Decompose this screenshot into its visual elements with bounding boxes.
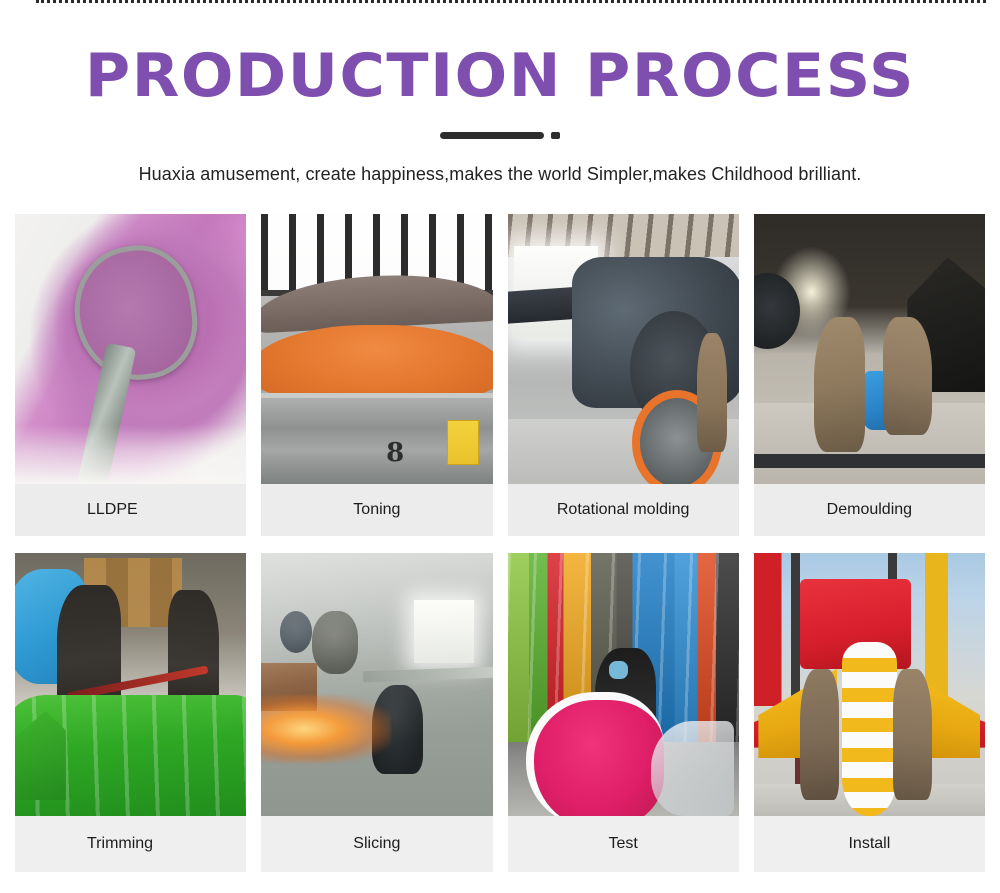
rotational-molding-photo[interactable] [508,214,739,484]
card-label: Trimming [87,835,153,853]
process-card-lldpe[interactable]: LLDPE [15,214,246,536]
face-mask [609,661,628,679]
divider-square [551,132,560,139]
page-title: PRODUCTION PROCESS [0,44,1000,108]
surface-glare [15,425,246,484]
drum-number-mark: 8 [386,438,404,468]
card-label: Demoulding [827,501,912,519]
worker-figure-left [800,669,839,801]
card-label: Install [848,835,890,853]
card-caption: Demoulding [754,484,985,536]
card-label: LLDPE [87,501,138,519]
process-card-rotational-molding[interactable]: Rotational molding [508,214,739,536]
test-photo[interactable] [508,553,739,816]
card-label: Slicing [353,835,400,853]
steel-frame [754,454,985,468]
worker-figure-left [814,317,865,452]
toning-photo[interactable]: 8 [261,214,492,484]
process-card-toning[interactable]: 8 Toning [261,214,492,536]
card-caption: Toning [261,484,492,536]
card-label: Test [608,835,637,853]
clear-plastic-part [651,721,734,816]
process-card-trimming[interactable]: Trimming [15,553,246,872]
spiral-tube-slide [842,642,898,816]
card-caption: Slicing [261,816,492,872]
card-caption: Install [754,816,985,872]
process-card-install[interactable]: Install [754,553,985,872]
production-process-page: PRODUCTION PROCESS Huaxia amusement, cre… [0,0,1000,893]
install-photo[interactable] [754,553,985,816]
card-caption: LLDPE [15,484,246,536]
worker-figure-right [893,669,932,801]
card-label: Toning [353,501,400,519]
process-card-test[interactable]: Test [508,553,739,872]
trimming-photo[interactable] [15,553,246,816]
section-header: PRODUCTION PROCESS Huaxia amusement, cre… [0,0,1000,185]
process-card-slicing[interactable]: Slicing [261,553,492,872]
worker-figure [697,333,727,452]
slicing-photo[interactable] [261,553,492,816]
card-label: Rotational molding [557,501,690,519]
title-divider [0,130,1000,140]
card-caption: Rotational molding [508,484,739,536]
lldpe-photo[interactable] [15,214,246,484]
worker-figure-right [883,317,932,436]
card-caption: Trimming [15,816,246,872]
light-haze [261,553,492,816]
top-dotted-divider [36,0,986,3]
drum-yellow-label [447,420,479,465]
page-subtitle: Huaxia amusement, create happiness,makes… [0,164,1000,185]
process-gallery-grid: LLDPE 8 Toning [15,214,985,872]
divider-bar [440,132,544,139]
process-card-demoulding[interactable]: Demoulding [754,214,985,536]
pink-plastic-part [526,692,664,816]
demoulding-photo[interactable] [754,214,985,484]
card-caption: Test [508,816,739,872]
